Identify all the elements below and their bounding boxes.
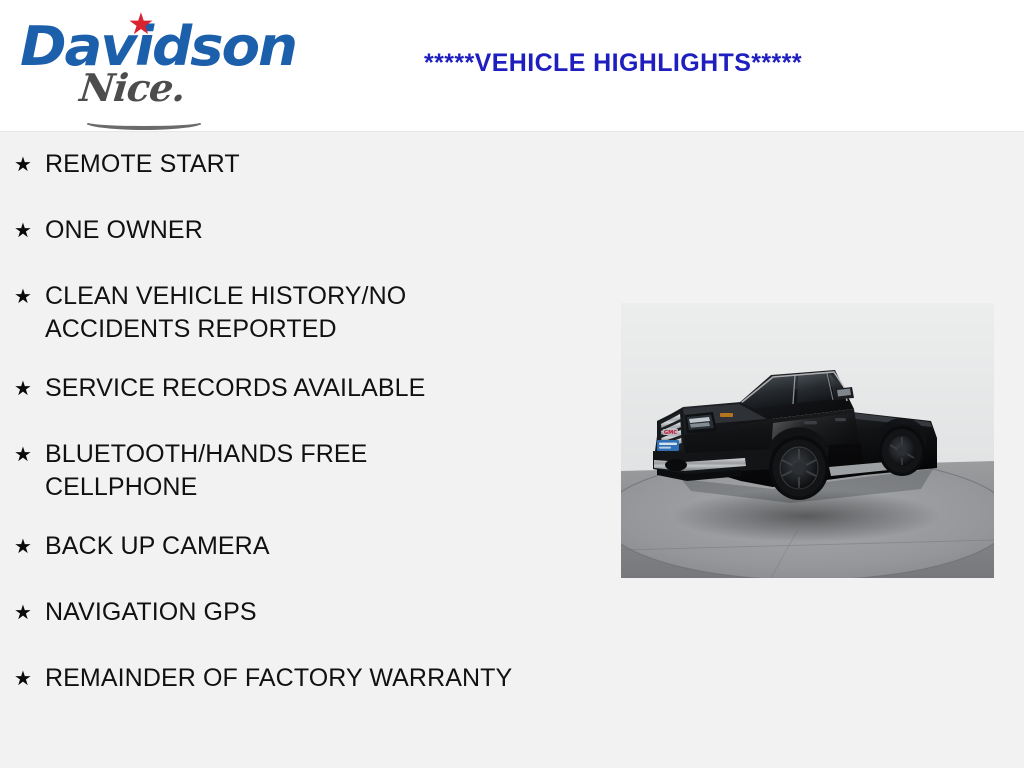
dealer-logo-script-text: Nice. bbox=[78, 69, 187, 107]
highlight-label: REMAINDER OF FACTORY WARRANTY bbox=[45, 662, 515, 695]
rear-wheel bbox=[879, 426, 925, 476]
highlight-label: BACK UP CAMERA bbox=[45, 530, 515, 563]
highlight-label: REMOTE START bbox=[45, 148, 515, 181]
list-item: ★ REMOTE START bbox=[0, 148, 600, 188]
highlight-label: NAVIGATION GPS bbox=[45, 596, 515, 629]
highlight-label: ONE OWNER bbox=[45, 214, 515, 247]
vehicle-highlights-page: Davidson ★ Nice. *****VEHICLE HIGHLIGHTS… bbox=[0, 0, 1024, 768]
list-item: ★ CLEAN VEHICLE HISTORY/NO ACCIDENTS REP… bbox=[0, 280, 600, 346]
star-bullet-icon: ★ bbox=[13, 214, 33, 248]
svg-text:GMC: GMC bbox=[664, 430, 677, 436]
list-item: ★ BLUETOOTH/HANDS FREE CELLPHONE bbox=[0, 438, 600, 504]
list-item: ★ REMAINDER OF FACTORY WARRANTY bbox=[0, 662, 600, 702]
star-bullet-icon: ★ bbox=[13, 280, 33, 314]
highlight-label: BLUETOOTH/HANDS FREE CELLPHONE bbox=[45, 438, 515, 504]
star-icon: ★ bbox=[126, 10, 156, 40]
page-header: Davidson ★ Nice. *****VEHICLE HIGHLIGHTS… bbox=[0, 0, 1024, 132]
star-bullet-icon: ★ bbox=[13, 372, 33, 406]
star-bullet-icon: ★ bbox=[13, 530, 33, 564]
logo-swoosh-divider bbox=[84, 114, 204, 130]
highlight-label: SERVICE RECORDS AVAILABLE bbox=[45, 372, 515, 405]
list-item: ★ ONE OWNER bbox=[0, 214, 600, 254]
vehicle-photo-illustration: GMC bbox=[621, 303, 994, 578]
star-bullet-icon: ★ bbox=[13, 148, 33, 182]
list-item: ★ BACK UP CAMERA bbox=[0, 530, 600, 570]
star-bullet-icon: ★ bbox=[13, 662, 33, 696]
vehicle-photo: GMC bbox=[621, 303, 994, 578]
dealer-logo[interactable]: Davidson ★ Nice. bbox=[14, 6, 276, 126]
star-bullet-icon: ★ bbox=[13, 596, 33, 630]
list-item: ★ SERVICE RECORDS AVAILABLE bbox=[0, 372, 600, 412]
vehicle-highlights-list: ★ REMOTE START ★ ONE OWNER ★ CLEAN VEHIC… bbox=[0, 132, 600, 728]
list-item: ★ NAVIGATION GPS bbox=[0, 596, 600, 636]
page-title: *****VEHICLE HIGHLIGHTS***** bbox=[424, 51, 802, 76]
star-bullet-icon: ★ bbox=[13, 438, 33, 472]
highlight-label: CLEAN VEHICLE HISTORY/NO ACCIDENTS REPOR… bbox=[45, 280, 515, 346]
